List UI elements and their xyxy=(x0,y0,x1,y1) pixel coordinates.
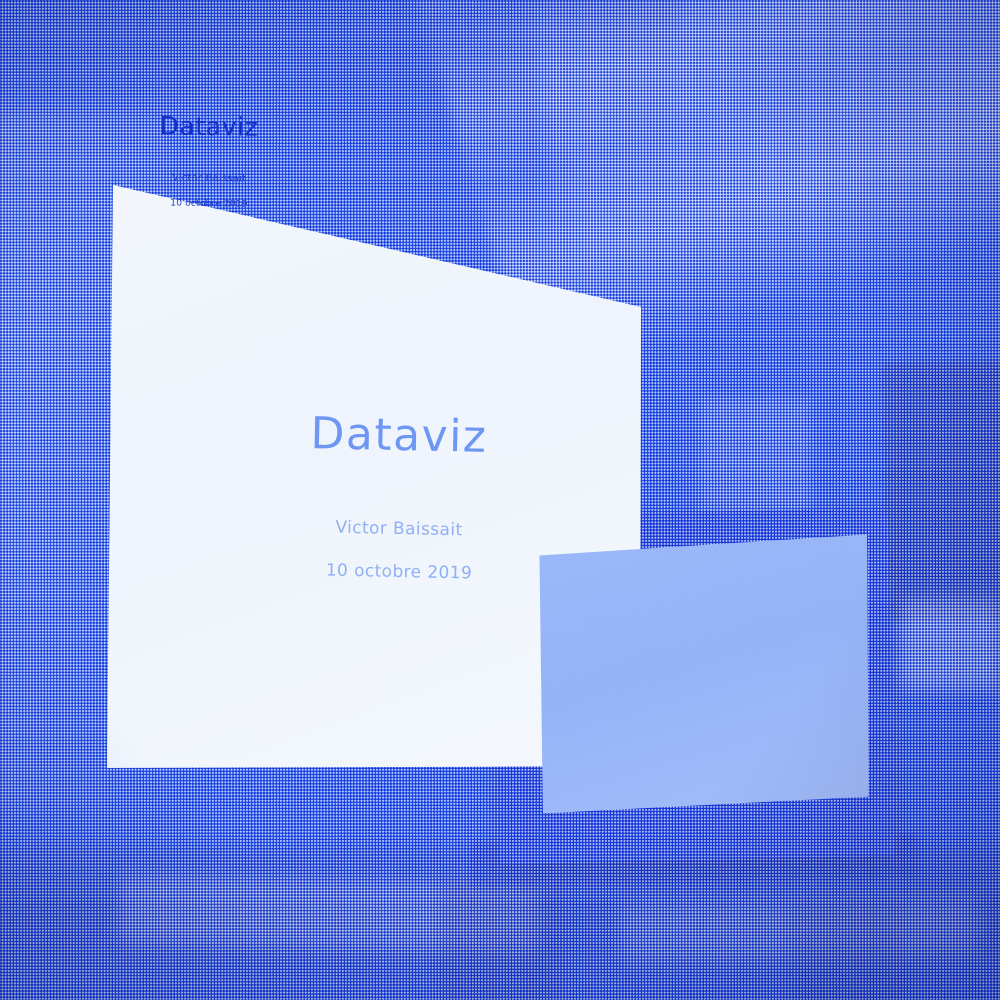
projected-slide-title-top: Dataviz xyxy=(248,407,549,464)
wall-highlight-right xyxy=(900,600,1000,690)
scene-photograph: Dataviz Victor Baissait 10 octobre 2019 … xyxy=(0,0,1000,1000)
dark-monitor-right xyxy=(882,361,1000,621)
presenter-laptop xyxy=(492,508,895,864)
chair-right xyxy=(790,900,900,1000)
laptop-screen xyxy=(537,534,873,811)
chair-left xyxy=(440,880,560,1000)
laptop-slide-title-top: Dataviz xyxy=(54,110,364,143)
